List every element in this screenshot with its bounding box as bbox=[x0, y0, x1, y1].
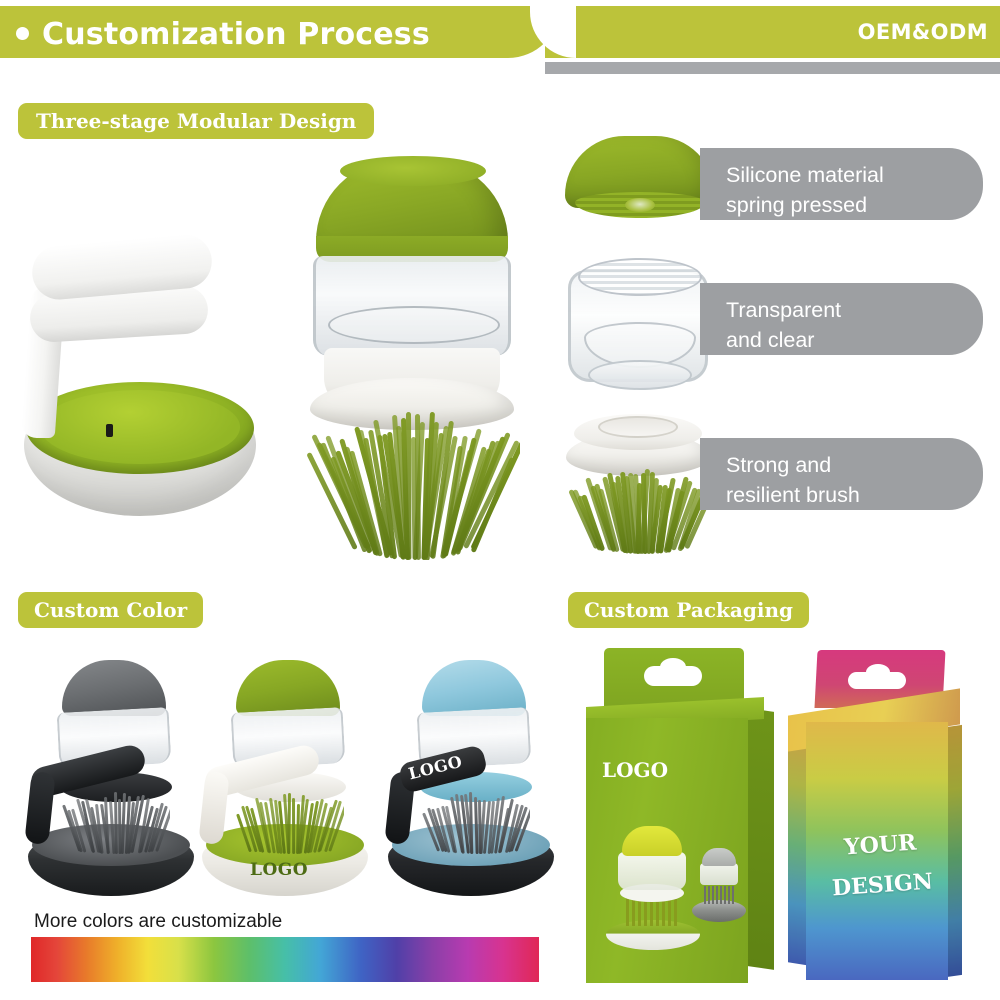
more-colors-note: More colors are customizable bbox=[34, 911, 282, 933]
brush-cap-press-top bbox=[340, 156, 486, 186]
box-product2-reservoir bbox=[700, 863, 738, 885]
callout-1-line-1: Silicone material bbox=[726, 160, 963, 190]
rainbow-box-text-line-1: YOUR bbox=[843, 830, 917, 861]
callout-2-line-1: Transparent bbox=[726, 295, 963, 325]
variant-2-bristles bbox=[236, 792, 344, 854]
packaging-rainbow-box: YOUR DESIGN bbox=[788, 650, 988, 985]
part-clear-reservoir bbox=[562, 252, 714, 392]
callout-3-line-2: resilient brush bbox=[726, 480, 963, 510]
rainbow-box-right-panel bbox=[946, 725, 962, 977]
box-product-bristles bbox=[626, 898, 678, 926]
product-stand-holder bbox=[18, 232, 288, 522]
rainbow-box-hang-hole-top bbox=[866, 664, 890, 680]
callout-transparent-clear: Transparent and clear bbox=[700, 283, 983, 355]
callout-silicone-material: Silicone material spring pressed bbox=[700, 148, 983, 220]
infographic-page: Customization Process OEM&ODM Three-stag… bbox=[0, 0, 1000, 1000]
callout-3-line-1: Strong and bbox=[726, 450, 963, 480]
color-variant-black-gray bbox=[22, 652, 202, 902]
green-box-product-image-main bbox=[604, 826, 702, 954]
stand-handle-arm bbox=[20, 238, 215, 438]
header-gray-bar bbox=[545, 62, 1000, 74]
callout-strong-brush: Strong and resilient brush bbox=[700, 438, 983, 510]
section-label-custom-packaging: Custom Packaging bbox=[568, 592, 809, 628]
page-header: Customization Process OEM&ODM bbox=[0, 0, 1000, 72]
part-silicone-cap bbox=[565, 136, 715, 224]
section-label-custom-color: Custom Color bbox=[18, 592, 203, 628]
oem-odm-badge: OEM&ODM bbox=[858, 12, 988, 52]
color-variant-blue-black: LOGO bbox=[382, 652, 562, 902]
jar-base bbox=[588, 360, 692, 390]
box-product2-bristles bbox=[704, 886, 736, 904]
part-brush-head bbox=[562, 410, 714, 550]
variant-2-logo-text: LOGO bbox=[250, 860, 308, 880]
bullet-dot-icon bbox=[16, 27, 29, 40]
brush-bristles bbox=[306, 412, 520, 560]
green-box-logo-text: LOGO bbox=[602, 758, 668, 782]
brush-head-opening bbox=[598, 416, 678, 438]
callout-1-line-2: spring pressed bbox=[726, 190, 963, 220]
variant-3-bristles bbox=[422, 792, 530, 854]
callout-2-line-2: and clear bbox=[726, 325, 963, 355]
variant-1-bristles bbox=[62, 792, 170, 854]
product-assembled-brush bbox=[288, 150, 538, 570]
brush-reservoir-inner-line bbox=[328, 306, 500, 344]
color-spectrum-bar bbox=[31, 937, 539, 982]
box-product-cap bbox=[622, 826, 682, 856]
packaging-green-box: LOGO bbox=[568, 648, 783, 988]
box-product2-cap bbox=[702, 848, 736, 866]
brush-head-bristles bbox=[568, 468, 710, 554]
section-label-modular-design: Three-stage Modular Design bbox=[18, 103, 374, 139]
green-box-side-panel bbox=[748, 708, 774, 970]
jar-threaded-neck bbox=[578, 258, 702, 296]
color-variant-white-green: LOGO bbox=[196, 652, 376, 902]
cap-center-valve bbox=[625, 198, 655, 212]
green-box-product-image-secondary bbox=[692, 848, 746, 928]
header-curve-notch bbox=[530, 6, 576, 58]
box-product-reservoir bbox=[618, 852, 686, 890]
page-title: Customization Process bbox=[42, 12, 430, 58]
green-box-hang-hole-top bbox=[660, 658, 686, 676]
